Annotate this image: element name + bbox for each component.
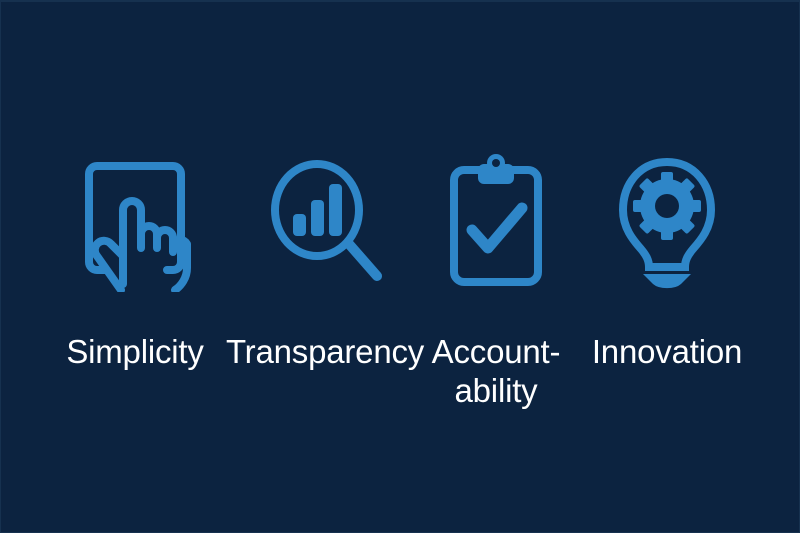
magnifier-bar-chart-icon — [265, 152, 385, 292]
value-item-innovation: Innovation — [572, 2, 762, 371]
lightbulb-gear-icon — [607, 152, 727, 292]
value-label: Innovation — [592, 332, 742, 371]
value-label: Transparency — [226, 332, 424, 371]
value-item-accountability: Account- ability — [420, 2, 572, 410]
value-item-simplicity: Simplicity — [40, 2, 230, 371]
touchscreen-hand-icon — [75, 152, 195, 292]
value-label: Account- ability — [420, 332, 572, 410]
value-label: Simplicity — [66, 332, 203, 371]
clipboard-check-icon — [440, 152, 552, 292]
value-item-transparency: Transparency — [230, 2, 420, 371]
values-row: Simplicity Transparency — [1, 2, 800, 533]
values-graphic: Simplicity Transparency — [0, 0, 800, 533]
